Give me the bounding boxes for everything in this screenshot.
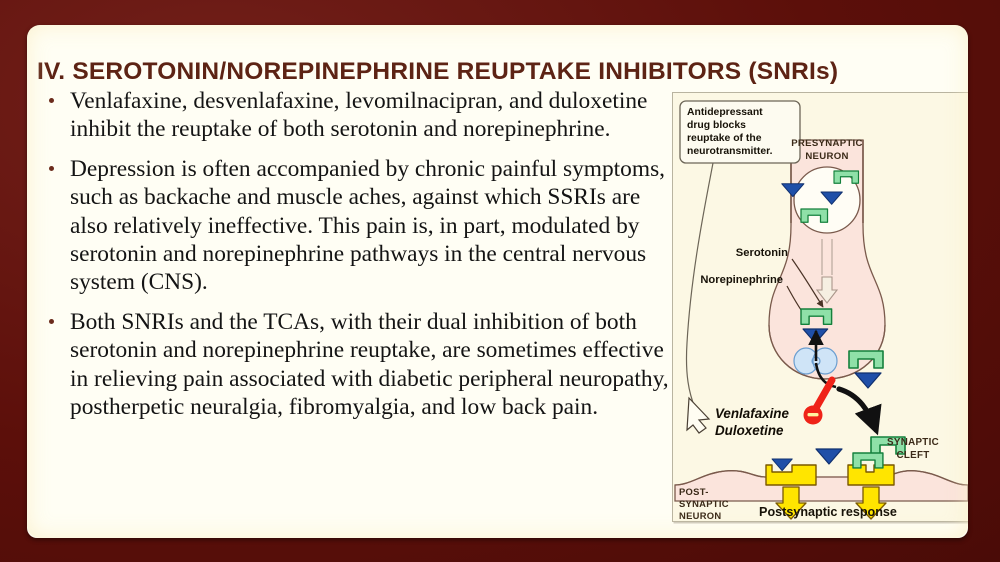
serotonin-molecule — [816, 449, 842, 464]
bullet-list: Venlafaxine, desvenlafaxine, levomilnaci… — [39, 87, 679, 432]
presynaptic-neuron-label-line2: NEURON — [805, 151, 848, 162]
callout-arrow-icon — [687, 398, 709, 433]
presynaptic-neuron-label-line1: PRESYNAPTIC — [791, 138, 863, 149]
postsynaptic-neuron-shape — [675, 471, 968, 501]
serotonin-label: Serotonin — [736, 247, 788, 259]
callout-line-3: reuptake of the — [687, 133, 762, 144]
drug-label-line1: Venlafaxine — [715, 406, 789, 421]
bullet-dot-icon — [49, 98, 54, 103]
postsynaptic-neuron-label-line3: NEURON — [679, 510, 721, 521]
slide-stage: IV. SEROTONIN/NOREPINEPHRINE REUPTAKE IN… — [0, 0, 1000, 562]
postsynaptic-neuron-label-line1: POST- — [679, 486, 709, 497]
postsynaptic-response-label: Postsynaptic response — [759, 505, 897, 519]
page-title: IV. SEROTONIN/NOREPINEPHRINE REUPTAKE IN… — [37, 58, 937, 86]
bullet-dot-icon — [49, 319, 54, 324]
callout-line-1: Antidepressant — [687, 107, 763, 118]
postsynaptic-neuron-label-line2: SYNAPTIC — [679, 498, 729, 509]
drug-label-line2: Duloxetine — [715, 423, 784, 438]
neurotransmitter-release-arrow — [839, 389, 876, 430]
serotonin-molecule — [855, 373, 881, 388]
norepinephrine-label: Norepinephrine — [700, 274, 783, 286]
list-item-text: Both SNRIs and the TCAs, with their dual… — [70, 309, 669, 420]
synapse-diagram-svg: Antidepressant drug blocks reuptake of t… — [673, 93, 968, 521]
synaptic-cleft-label-line2: CLEFT — [896, 450, 929, 461]
callout-line-2: drug blocks — [687, 120, 746, 131]
inhibition-blocker-icon — [804, 380, 833, 425]
callout-line-4: neurotransmitter. — [687, 146, 773, 157]
list-item: Venlafaxine, desvenlafaxine, levomilnaci… — [39, 87, 679, 144]
callout-box: Antidepressant drug blocks reuptake of t… — [680, 101, 800, 163]
slide-card: IV. SEROTONIN/NOREPINEPHRINE REUPTAKE IN… — [27, 25, 968, 538]
list-item: Depression is often accompanied by chron… — [39, 155, 679, 297]
bullet-dot-icon — [49, 166, 54, 171]
list-item: Both SNRIs and the TCAs, with their dual… — [39, 308, 679, 422]
list-item-text: Venlafaxine, desvenlafaxine, levomilnaci… — [70, 88, 647, 142]
postsynaptic-receptor-norepinephrine — [848, 453, 894, 485]
synaptic-cleft-label-line1: SYNAPTIC — [887, 437, 939, 448]
postsynaptic-receptor-serotonin — [766, 459, 816, 485]
synapse-diagram-figure: Antidepressant drug blocks reuptake of t… — [672, 92, 968, 522]
list-item-text: Depression is often accompanied by chron… — [70, 156, 665, 296]
